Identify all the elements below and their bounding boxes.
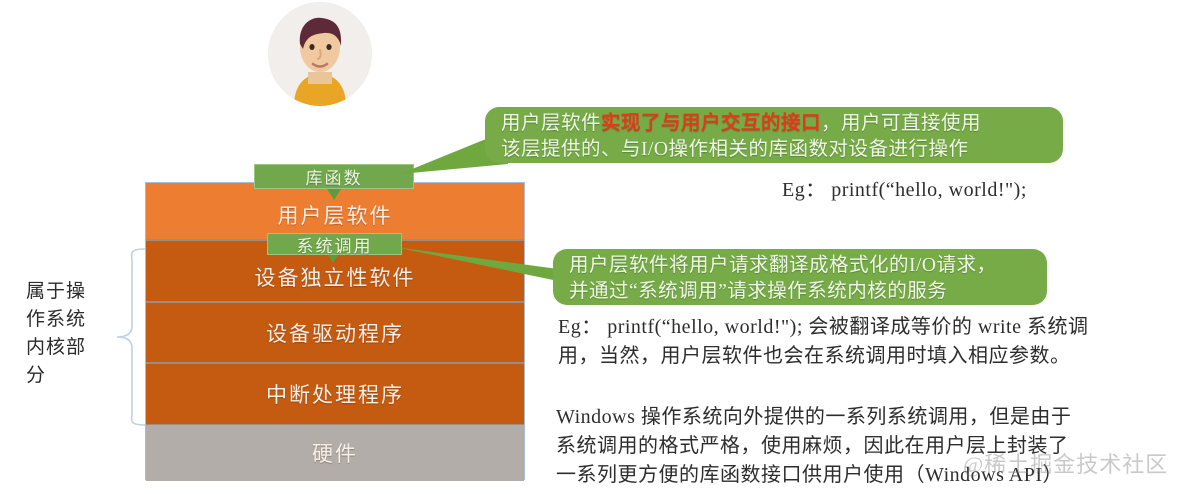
callout-tail-2 <box>395 243 560 283</box>
eg2-line2: 用，当然，用户层软件也会在系统调用时填入相应参数。 <box>558 345 1071 367</box>
callout1-line1-b: ，用户可直接使用 <box>821 113 981 134</box>
callout-user-layer-interface: 用户层软件实现了与用户交互的接口，用户可直接使用 该层提供的、与I/O操作相关的… <box>485 107 1063 163</box>
callout1-line2: 该层提供的、与I/O操作相关的库函数对设备进行操作 <box>501 139 969 160</box>
layer-label: 设备独立性软件 <box>255 262 416 292</box>
eg2-line1: Eg： printf(“hello, world!"); 会被翻译成等价的 wr… <box>558 316 1088 338</box>
example-printf-simple: Eg： printf(“hello, world!"); <box>782 176 1027 205</box>
chip-label: 系统调用 <box>297 232 373 257</box>
layer-label: 设备驱动程序 <box>266 318 404 348</box>
layer-hardware: 硬件 <box>146 425 524 481</box>
avatar-illustration <box>268 2 372 106</box>
callout1-line1-a: 用户层软件 <box>501 113 601 134</box>
user-avatar <box>268 2 372 106</box>
callout-text: 用户层软件实现了与用户交互的接口，用户可直接使用 该层提供的、与I/O操作相关的… <box>485 107 1063 163</box>
chip-system-call: 系统调用 <box>267 233 402 255</box>
kernel-part-label: 属于操作系统内核部分 <box>26 278 102 390</box>
arrow-down-icon <box>328 255 338 263</box>
layer-device-driver: 设备驱动程序 <box>146 303 524 364</box>
layer-label: 用户层软件 <box>278 200 393 230</box>
layer-interrupt-handler: 中断处理程序 <box>146 364 524 425</box>
io-software-layers-diagram: 属于操作系统内核部分 用户层软件 设备独立性软件 设备驱动程序 中断处理程序 硬… <box>0 0 1181 494</box>
callout-text: 用户层软件将用户请求翻译成格式化的I/O请求， 并通过“系统调用”请求操作系统内… <box>553 249 1047 305</box>
callout1-highlight: 实现了与用户交互的接口 <box>601 113 821 134</box>
watermark: @稀土掘金技术社区 <box>963 447 1168 479</box>
callout-system-call-translation: 用户层软件将用户请求翻译成格式化的I/O请求， 并通过“系统调用”请求操作系统内… <box>553 249 1047 305</box>
windows-line1: Windows 操作系统向外提供的一系列系统调用，但是由于 <box>556 406 1071 428</box>
arrow-down-icon <box>327 189 341 200</box>
example-printf-explanation: Eg： printf(“hello, world!"); 会被翻译成等价的 wr… <box>558 313 1178 371</box>
layer-label: 硬件 <box>312 438 358 468</box>
layer-label: 中断处理程序 <box>266 379 404 409</box>
kernel-brace <box>104 248 146 426</box>
callout2-line1: 用户层软件将用户请求翻译成格式化的I/O请求， <box>569 255 997 276</box>
chip-label: 库函数 <box>306 164 363 189</box>
layer-stack: 用户层软件 设备独立性软件 设备驱动程序 中断处理程序 硬件 <box>145 182 525 480</box>
callout2-line2: 并通过“系统调用”请求操作系统内核的服务 <box>569 281 947 302</box>
chip-library-function: 库函数 <box>254 164 414 189</box>
